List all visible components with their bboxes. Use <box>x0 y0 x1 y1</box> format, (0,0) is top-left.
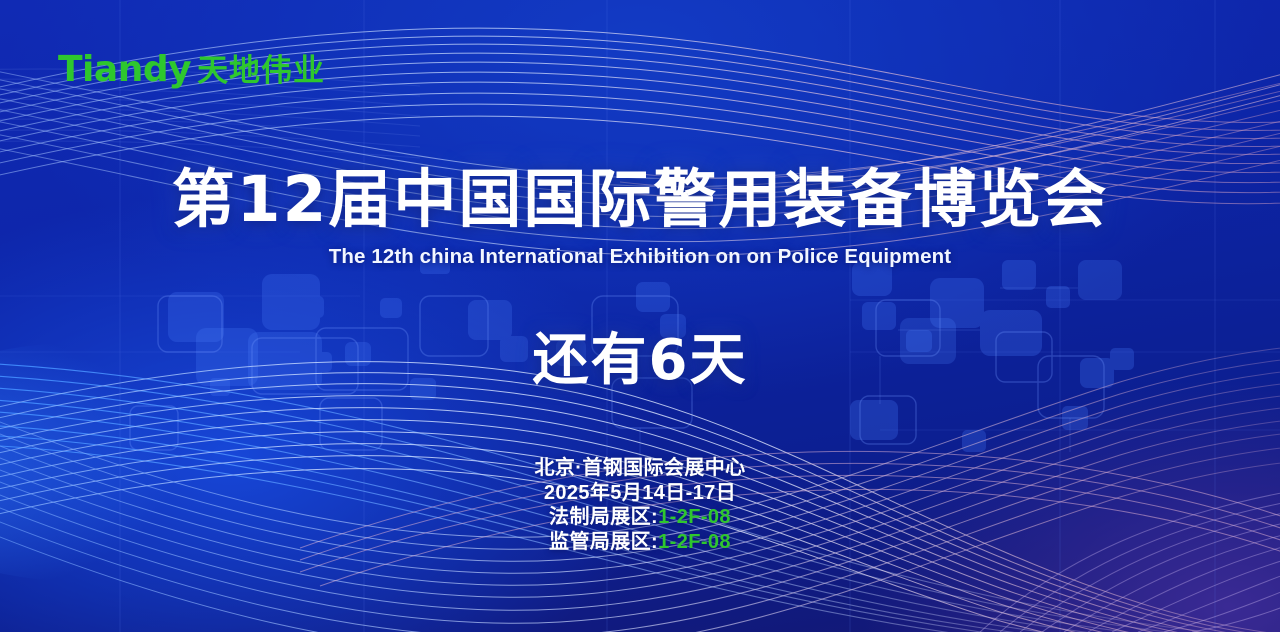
booth-line-1: 法制局展区:1-2F-08 <box>0 505 1280 530</box>
brand-logo-en: Tiandy <box>58 52 191 88</box>
booth-number-2: 1-2F-08 <box>658 531 731 553</box>
booth-line-2: 监管局展区:1-2F-08 <box>0 530 1280 555</box>
event-title-cn: 第12届中国国际警用装备博览会 <box>0 168 1280 232</box>
brand-logo: Tiandy 天地伟业 <box>58 52 325 88</box>
dates-line: 2025年5月14日-17日 <box>0 481 1280 506</box>
booth-label-2: 监管局展区: <box>549 531 658 553</box>
event-countdown-banner: Tiandy 天地伟业 第12届中国国际警用装备博览会 The 12th chi… <box>0 0 1280 632</box>
booth-label-1: 法制局展区: <box>549 506 658 528</box>
brand-logo-cn: 天地伟业 <box>197 55 325 86</box>
hero-block: 第12届中国国际警用装备博览会 The 12th china Internati… <box>0 168 1280 396</box>
venue-line: 北京·首钢国际会展中心 <box>0 456 1280 481</box>
event-title-en: The 12th china International Exhibition … <box>0 245 1280 269</box>
countdown-text: 还有6天 <box>0 315 1280 396</box>
booth-number-1: 1-2F-08 <box>658 506 731 528</box>
event-info-block: 北京·首钢国际会展中心 2025年5月14日-17日 法制局展区:1-2F-08… <box>0 456 1280 554</box>
